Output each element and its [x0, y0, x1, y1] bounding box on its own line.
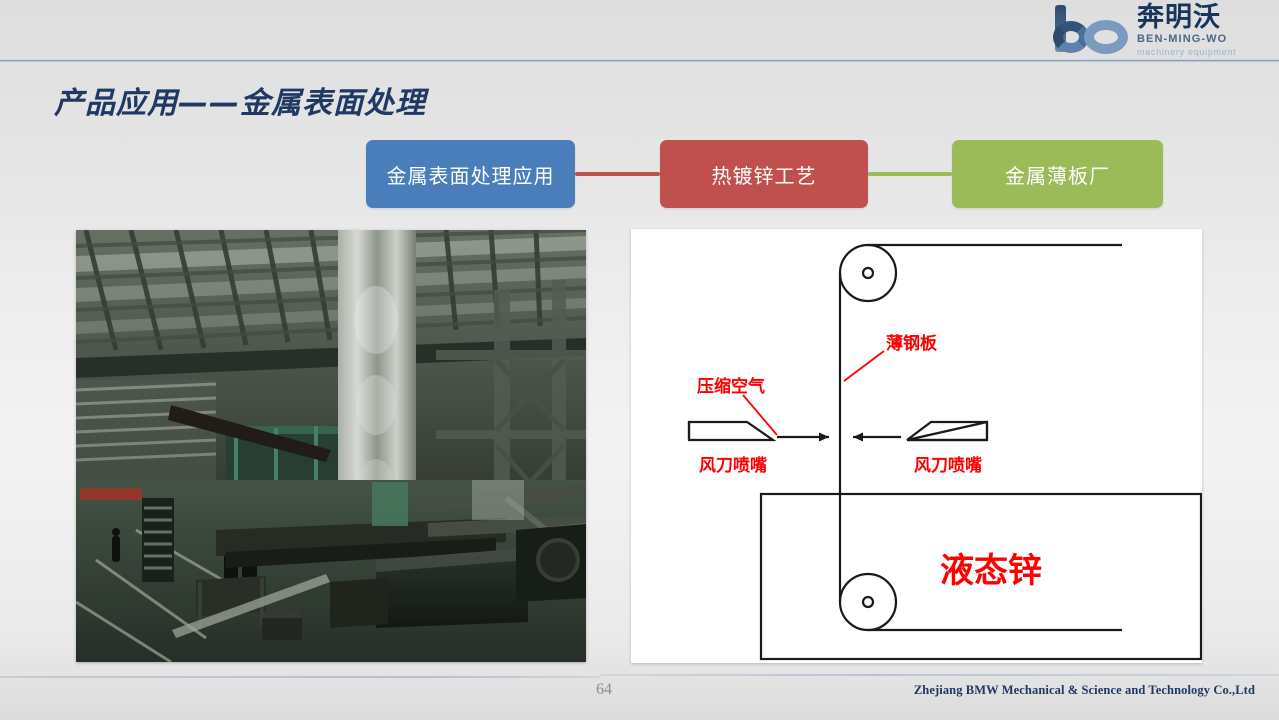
page-title: 产品应用——金属表面处理	[54, 78, 426, 122]
footer-company-name: Zhejiang BMW Mechanical & Science and Te…	[914, 683, 1255, 698]
footer-divider-left	[0, 676, 600, 678]
logo-tagline: machinery equipment	[1137, 46, 1271, 58]
bo-monogram-icon	[1049, 4, 1135, 54]
logo-name-cn: 奔明沃	[1137, 3, 1271, 33]
label-air-knife-right: 风刀喷嘴	[914, 456, 982, 476]
slide: 奔明沃 BEN-MING-WO machinery equipment 产品应用…	[0, 0, 1279, 720]
header-divider-right	[1085, 58, 1279, 60]
flow-box-hot-dip-galvanizing[interactable]: 热镀锌工艺	[660, 140, 868, 208]
factory-photo	[76, 230, 586, 662]
logo-name-en: BEN-MING-WO	[1137, 33, 1271, 46]
flow-box-sheet-metal-plant[interactable]: 金属薄板厂	[952, 140, 1163, 208]
company-logo: 奔明沃 BEN-MING-WO machinery equipment	[1049, 2, 1271, 58]
label-compressed-air: 压缩空气	[697, 376, 765, 397]
label-air-knife-left: 风刀喷嘴	[699, 456, 767, 476]
footer-divider	[600, 674, 1279, 676]
flow-box-metal-surface-treatment[interactable]: 金属表面处理应用	[366, 140, 575, 208]
logo-wordmark: 奔明沃 BEN-MING-WO machinery equipment	[1137, 2, 1271, 58]
label-molten-zinc: 液态锌	[940, 551, 1042, 591]
label-steel-strip: 薄钢板	[886, 333, 938, 354]
page-number: 64	[596, 681, 612, 699]
galvanizing-schematic: 薄钢板 压缩空气 风刀喷嘴 风刀喷嘴 液态锌	[631, 229, 1202, 663]
connector-red-to-green	[868, 172, 952, 176]
connector-blue-to-red	[575, 172, 660, 176]
